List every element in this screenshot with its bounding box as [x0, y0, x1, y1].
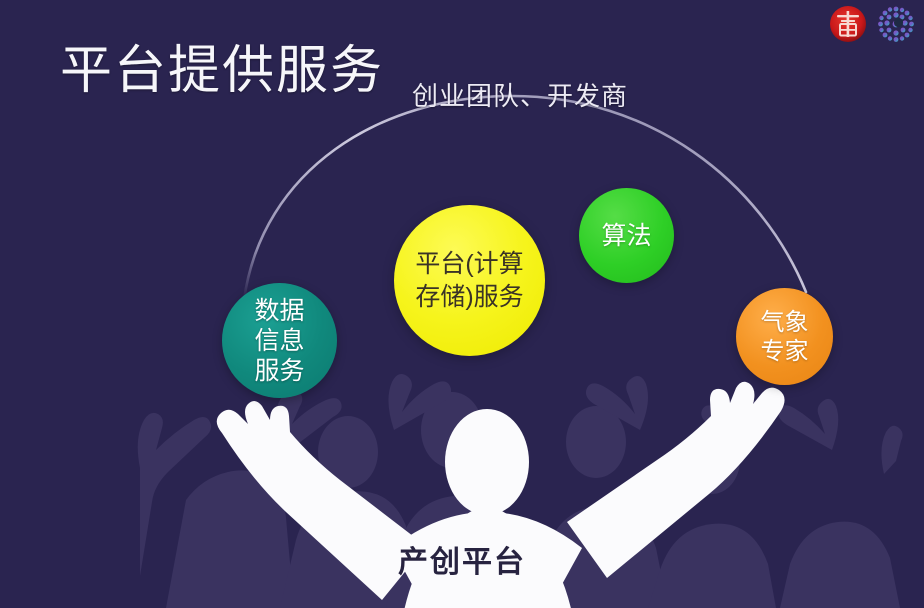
dotted-circle-logo-icon — [876, 4, 916, 44]
bubble-label: 算法 — [601, 221, 651, 251]
bubble-data-information-service[interactable]: 数据 信息 服务 — [222, 283, 337, 398]
bubble-label: 数据 信息 服务 — [254, 296, 304, 386]
bubble-label: 气象 专家 — [761, 308, 809, 366]
bubble-meteorology-expert[interactable]: 气象 专家 — [736, 288, 833, 385]
hero-caption: 产创平台 — [0, 545, 924, 581]
bubble-platform-compute-storage-service[interactable]: 平台(计算 存储)服务 — [394, 205, 545, 356]
bubble-algorithm[interactable]: 算法 — [579, 188, 674, 283]
arc-label-startups-developers: 创业团队、开发商 — [412, 80, 628, 112]
red-seal-logo-icon — [828, 4, 868, 44]
logo-bar — [828, 4, 916, 44]
slide-canvas: 平台提供服务 创业团队、开发商 数据 信息 服务 平台(计算 存储)服务 算法 … — [0, 0, 924, 608]
bubble-label: 平台(计算 存储)服务 — [415, 248, 523, 314]
